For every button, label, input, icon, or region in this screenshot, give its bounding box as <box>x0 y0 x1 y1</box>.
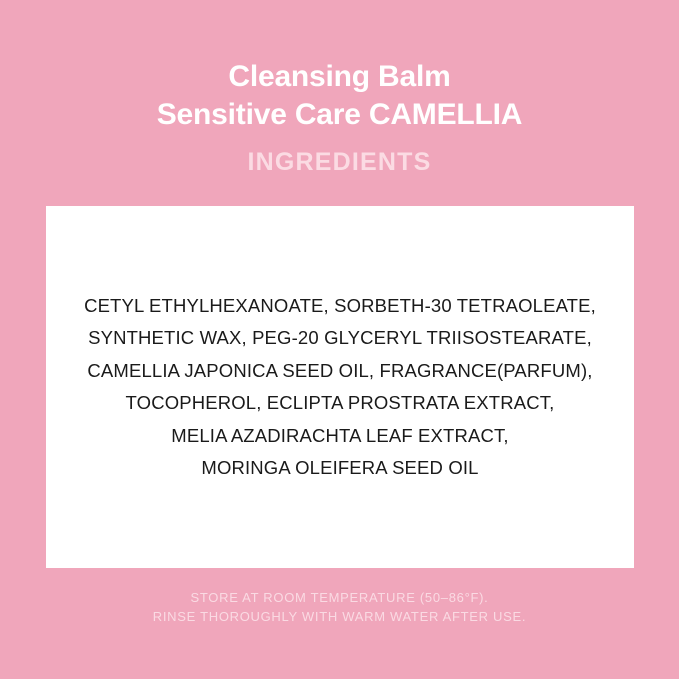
ingredient-line: SYNTHETIC WAX, PEG-20 GLYCERYL TRIISOSTE… <box>64 322 616 355</box>
ingredient-line: MORINGA OLEIFERA SEED OIL <box>64 452 616 485</box>
storage-line-temperature: STORE AT ROOM TEMPERATURE (50–86°F). <box>0 588 679 607</box>
product-title-line-2: Sensitive Care CAMELLIA <box>0 96 679 134</box>
header: Cleansing Balm Sensitive Care CAMELLIA I… <box>0 58 679 177</box>
storage-instructions: STORE AT ROOM TEMPERATURE (50–86°F). RIN… <box>0 588 679 626</box>
ingredient-line: CAMELLIA JAPONICA SEED OIL, FRAGRANCE(PA… <box>64 355 616 388</box>
ingredient-line: MELIA AZADIRACHTA LEAF EXTRACT, <box>64 420 616 453</box>
ingredients-card: CETYL ETHYLHEXANOATE, SORBETH-30 TETRAOL… <box>46 206 634 568</box>
ingredients-list: CETYL ETHYLHEXANOATE, SORBETH-30 TETRAOL… <box>46 290 634 485</box>
ingredient-line: TOCOPHEROL, ECLIPTA PROSTRATA EXTRACT, <box>64 387 616 420</box>
ingredient-line: CETYL ETHYLHEXANOATE, SORBETH-30 TETRAOL… <box>64 290 616 323</box>
page-title: Cleansing Balm Sensitive Care CAMELLIA <box>0 58 679 134</box>
section-label-ingredients: INGREDIENTS <box>0 148 679 177</box>
storage-line-rinse: RINSE THOROUGHLY WITH WARM WATER AFTER U… <box>0 607 679 626</box>
product-ingredients-panel: Cleansing Balm Sensitive Care CAMELLIA I… <box>0 0 679 679</box>
product-title-line-1: Cleansing Balm <box>0 58 679 96</box>
